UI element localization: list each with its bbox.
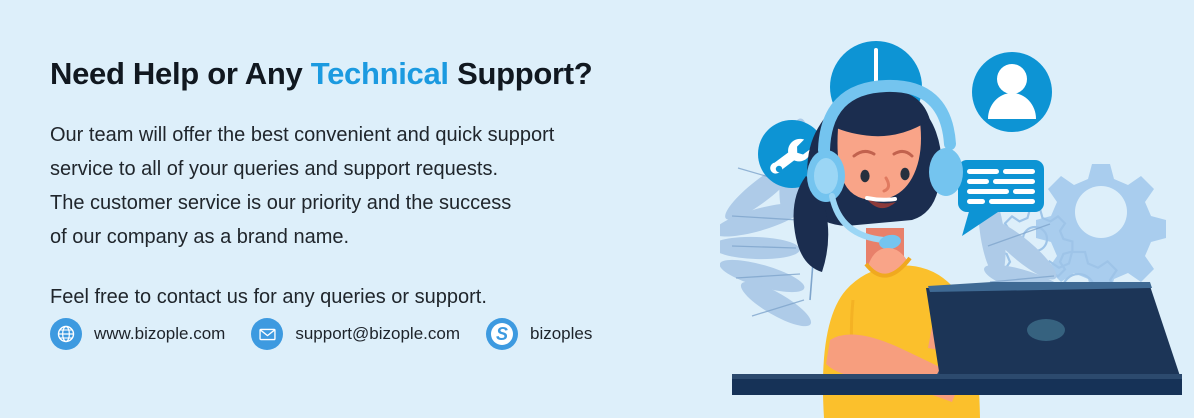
eye-right [900,168,909,180]
contact-skype[interactable]: S bizoples [486,318,592,350]
headline-part-2: Support? [449,56,593,91]
headset-earcup-right [929,148,963,196]
text-column: Need Help or Any Technical Support? Our … [50,56,750,314]
headline-accent-word: Technical [311,56,449,91]
skype-glyph: S [496,325,508,343]
contact-website[interactable]: www.bizople.com [50,318,225,350]
teeth [867,198,895,200]
skype-icon: S [486,318,518,350]
envelope-icon [251,318,283,350]
body-paragraph-2: Feel free to contact us for any queries … [50,280,750,314]
website-label: www.bizople.com [94,324,225,344]
user-avatar-icon [972,52,1052,132]
headline-part-1: Need Help or Any [50,56,311,91]
support-banner: Need Help or Any Technical Support? Our … [0,0,1194,418]
customer-support-illustration [720,0,1194,418]
desk [732,378,1182,395]
body-paragraph-1: Our team will offer the best convenient … [50,118,750,254]
contact-email[interactable]: support@bizople.com [251,318,460,350]
desk-edge [732,374,1182,379]
laptop-logo [1027,319,1065,341]
laptop [926,282,1180,380]
page-title: Need Help or Any Technical Support? [50,56,750,92]
email-label: support@bizople.com [295,324,460,344]
eye-left [860,170,869,182]
globe-icon [50,318,82,350]
contact-row: www.bizople.com support@bizople.com S bi… [50,318,618,350]
skype-label: bizoples [530,324,592,344]
